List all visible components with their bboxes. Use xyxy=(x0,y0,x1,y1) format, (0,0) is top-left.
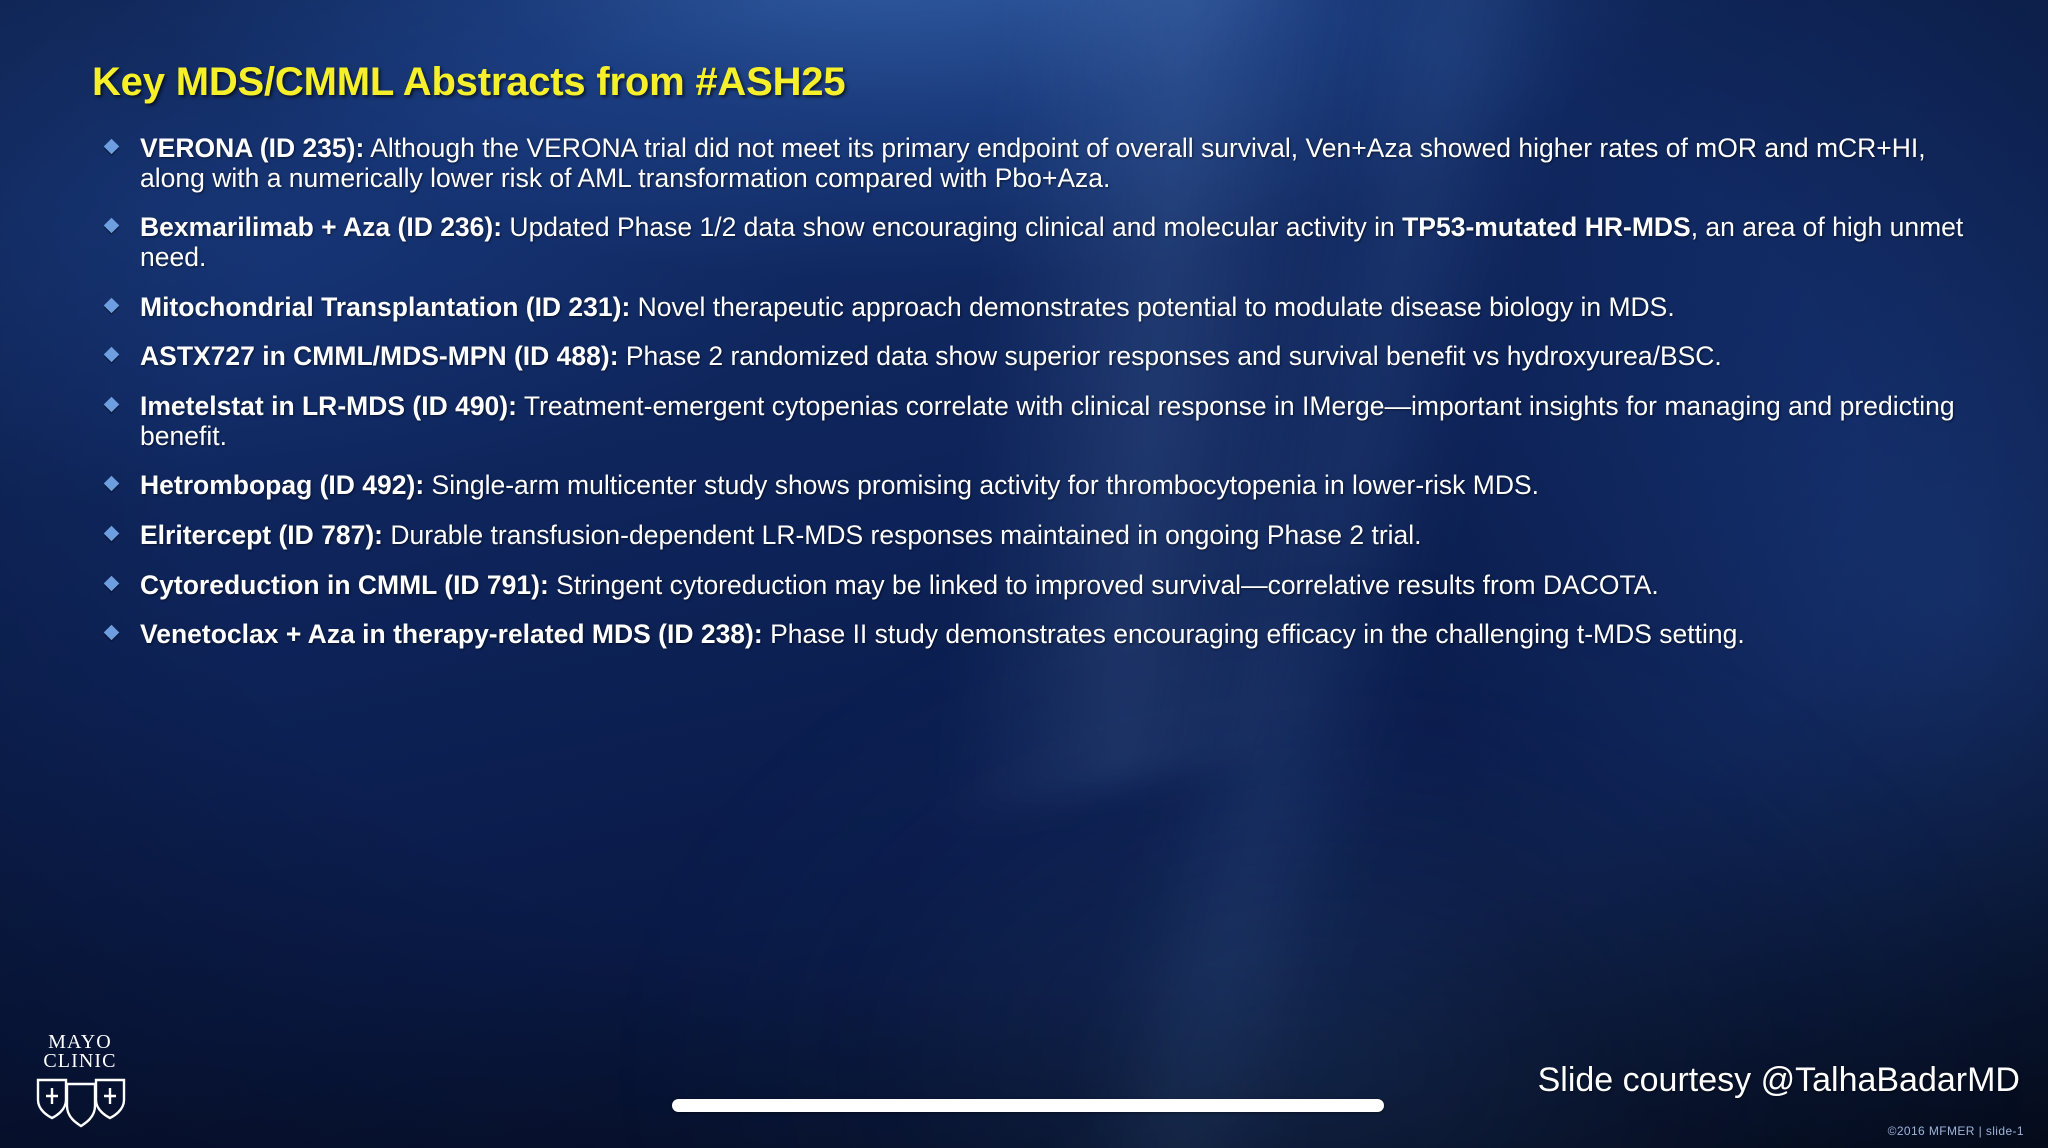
diamond-bullet-icon xyxy=(104,139,120,155)
list-item-body: Phase 2 randomized data show superior re… xyxy=(619,341,1722,371)
list-item: Venetoclax + Aza in therapy-related MDS … xyxy=(100,620,1980,650)
logo-wordmark-line-1: MAYO xyxy=(26,1033,134,1052)
list-item-lead: Cytoreduction in CMML (ID 791): xyxy=(140,570,549,600)
list-item-body: Stringent cytoreduction may be linked to… xyxy=(549,570,1659,600)
list-item-lead: Bexmarilimab + Aza (ID 236): xyxy=(140,212,502,242)
diamond-bullet-icon xyxy=(104,218,120,234)
list-item: Elritercept (ID 787): Durable transfusio… xyxy=(100,521,1980,551)
list-item-body: Novel therapeutic approach demonstrates … xyxy=(630,292,1674,322)
diamond-bullet-icon xyxy=(104,347,120,363)
list-item-lead: VERONA (ID 235): xyxy=(140,133,364,163)
diamond-bullet-icon xyxy=(104,575,120,591)
list-item-body: Although the VERONA trial did not meet i… xyxy=(140,133,1926,193)
diamond-bullet-icon xyxy=(104,526,120,542)
list-item-lead: Hetrombopag (ID 492): xyxy=(140,470,424,500)
slide-courtesy-credit: Slide courtesy @TalhaBadarMD xyxy=(1538,1061,2020,1100)
diamond-bullet-icon xyxy=(104,397,120,413)
presentation-slide: Key MDS/CMML Abstracts from #ASH25 VERON… xyxy=(0,0,2048,1148)
mayo-clinic-logo: MAYO CLINIC xyxy=(26,1033,134,1126)
list-item-lead: ASTX727 in CMML/MDS-MPN (ID 488): xyxy=(140,341,619,371)
list-item-lead: Imetelstat in LR-MDS (ID 490): xyxy=(140,391,517,421)
logo-wordmark-line-2: CLINIC xyxy=(26,1052,134,1071)
list-item: VERONA (ID 235): Although the VERONA tri… xyxy=(100,134,1980,193)
list-item: Hetrombopag (ID 492): Single-arm multice… xyxy=(100,471,1980,501)
list-item-emphasis: TP53-mutated HR-MDS xyxy=(1402,212,1691,242)
list-item-body: Phase II study demonstrates encouraging … xyxy=(763,619,1745,649)
copyright-notice: ©2016 MFMER | slide-1 xyxy=(1888,1124,2024,1138)
list-item-body: Updated Phase 1/2 data show encouraging … xyxy=(502,212,1402,242)
mayo-clinic-shields-icon xyxy=(26,1074,134,1126)
list-item-lead: Elritercept (ID 787): xyxy=(140,520,383,550)
page-title: Key MDS/CMML Abstracts from #ASH25 xyxy=(92,60,845,105)
list-item-lead: Mitochondrial Transplantation (ID 231): xyxy=(140,292,630,322)
list-item: Imetelstat in LR-MDS (ID 490): Treatment… xyxy=(100,392,1980,451)
list-item-body: Single-arm multicenter study shows promi… xyxy=(424,470,1539,500)
list-item: Bexmarilimab + Aza (ID 236): Updated Pha… xyxy=(100,213,1980,272)
slide-progress-bar[interactable] xyxy=(672,1099,1384,1112)
list-item-body: Durable transfusion-dependent LR-MDS res… xyxy=(383,520,1422,550)
diamond-bullet-icon xyxy=(104,476,120,492)
diamond-bullet-icon xyxy=(104,625,120,641)
bullet-list: VERONA (ID 235): Although the VERONA tri… xyxy=(100,134,1980,670)
list-item: Mitochondrial Transplantation (ID 231): … xyxy=(100,293,1980,323)
list-item: ASTX727 in CMML/MDS-MPN (ID 488): Phase … xyxy=(100,342,1980,372)
list-item: Cytoreduction in CMML (ID 791): Stringen… xyxy=(100,571,1980,601)
diamond-bullet-icon xyxy=(104,297,120,313)
list-item-lead: Venetoclax + Aza in therapy-related MDS … xyxy=(140,619,763,649)
